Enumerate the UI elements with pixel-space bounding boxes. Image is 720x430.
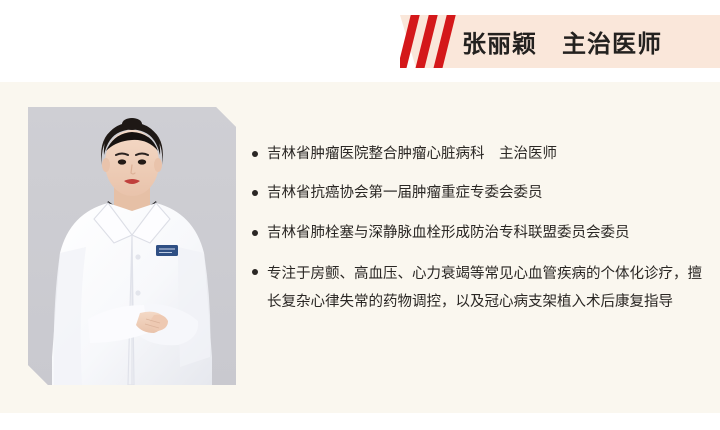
credentials-list: 吉林省肿瘤医院整合肿瘤心脏病科 主治医师 吉林省抗癌协会第一届肿瘤重症专委会委员…: [252, 143, 704, 317]
list-item: 吉林省抗癌协会第一届肿瘤重症专委会委员: [252, 182, 704, 204]
page-title: 张丽颖 主治医师: [462, 15, 662, 68]
header-banner: 张丽颖 主治医师: [400, 15, 720, 68]
bullet-icon: [252, 230, 258, 236]
bullet-icon: [252, 190, 258, 196]
credential-text: 吉林省抗癌协会第一届肿瘤重症专委会委员: [267, 182, 704, 204]
credential-text: 专注于房颤、高血压、心力衰竭等常见心血管疾病的个体化诊疗，擅长复杂心律失常的药物…: [267, 261, 704, 317]
list-item: 专注于房颤、高血压、心力衰竭等常见心血管疾病的个体化诊疗，擅长复杂心律失常的药物…: [252, 261, 704, 317]
bullet-icon: [252, 269, 258, 275]
doctor-portrait-photo: [28, 107, 236, 385]
list-item: 吉林省肿瘤医院整合肿瘤心脏病科 主治医师: [252, 143, 704, 165]
credential-text: 吉林省肿瘤医院整合肿瘤心脏病科 主治医师: [267, 143, 704, 165]
portrait-illustration: [28, 107, 236, 385]
doctor-profile-page: 张丽颖 主治医师: [0, 0, 720, 430]
credential-text: 吉林省肺栓塞与深静脉血栓形成防治专科联盟委员会委员: [267, 222, 704, 244]
bullet-icon: [252, 151, 258, 157]
list-item: 吉林省肺栓塞与深静脉血栓形成防治专科联盟委员会委员: [252, 222, 704, 244]
